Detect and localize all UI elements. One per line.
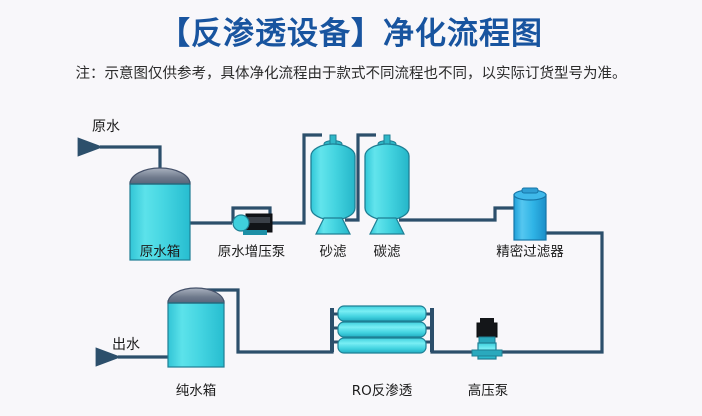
precision-filter [514, 188, 546, 240]
flow-label-inlet: 原水 [92, 116, 120, 136]
booster-pump [233, 214, 272, 235]
caption-pure-water-tank: 纯水箱 [156, 379, 236, 399]
page-note: 注：示意图仅供参考，具体净化流程由于款式不同流程也不同，以实际订货型号为准。 [0, 62, 702, 83]
caption-high-pressure-pump: 高压泵 [449, 379, 527, 399]
pipe-hp-to-ro [432, 332, 473, 352]
caption-precision-filter: 精密过滤器 [467, 240, 593, 260]
page-title: 【反渗透设备】净化流程图 [0, 8, 702, 53]
pure-water-tank [168, 288, 224, 367]
caption-ro-membrane: RO反渗透 [327, 379, 437, 399]
ro-membrane [332, 306, 432, 353]
pipe-carbon-to-precision [399, 208, 514, 220]
caption-raw-water-tank: 原水箱 [120, 240, 200, 260]
caption-sand-filter: 砂滤 [306, 240, 360, 260]
caption-booster-pump: 原水增压泵 [199, 240, 304, 260]
high-pressure-pump [472, 318, 502, 359]
flow-label-outlet: 出水 [112, 334, 140, 354]
process-flow-diagram: 原水 出水 原水箱 原水增压泵 砂滤 碳滤 精密过滤器 纯水箱 RO反渗透 高压… [0, 100, 702, 416]
caption-carbon-filter: 碳滤 [360, 240, 414, 260]
